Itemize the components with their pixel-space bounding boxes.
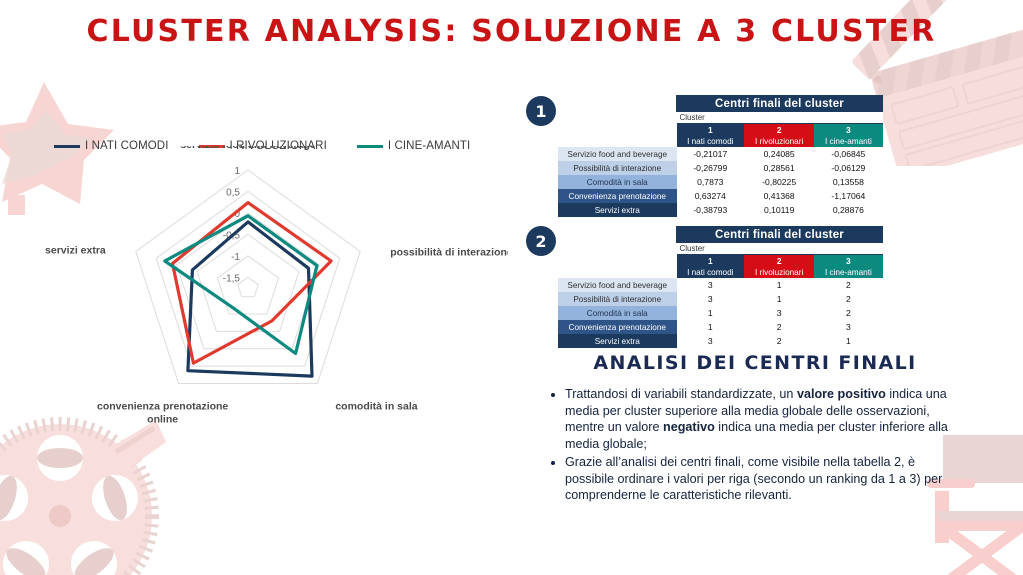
table1-row-label-1: Possibilità di interazione <box>558 161 677 175</box>
badge-table-2: 2 <box>526 226 556 256</box>
analysis-bullet: Grazie all’analisi dei centri finali, co… <box>565 454 948 504</box>
table1-cell-3-1: 0,41368 <box>744 189 814 203</box>
table2-row-label-2: Comodità in sala <box>558 306 677 320</box>
badge-table-1: 1 <box>526 96 556 126</box>
table1-col-num-2: 2 <box>744 124 814 136</box>
table1-cell-4-0: -0,38793 <box>677 203 745 217</box>
table2-col-num-1: 1 <box>677 255 745 267</box>
radar-chart: I NATI COMODI I RIVOLUZIONARI I CINE-AMA… <box>8 128 508 438</box>
table2-cell-2-2: 2 <box>814 306 882 320</box>
svg-text:comodità in sala: comodità in sala <box>335 400 417 412</box>
table-row: Servizio food and beverage -0,21017 0,24… <box>558 147 883 161</box>
table2-cluster-word: Cluster <box>677 243 883 255</box>
table2-col-name-3: I cine-amanti <box>814 266 882 278</box>
table2-cell-4-2: 1 <box>814 334 882 348</box>
table2-cell-2-1: 3 <box>744 306 814 320</box>
table2-cell-1-2: 2 <box>814 292 882 306</box>
table2-col-num-2: 2 <box>744 255 814 267</box>
table1-row-label-4: Servizi extra <box>558 203 677 217</box>
final-cluster-centers-table: Centri finali del cluster Cluster 1 2 3 … <box>558 95 883 217</box>
table1-cell-1-2: -0,06129 <box>814 161 882 175</box>
svg-text:1: 1 <box>234 166 240 177</box>
table-row: Convenienza prenotazione 0,63274 0,41368… <box>558 189 883 203</box>
table-row: Servizi extra -0,38793 0,10119 0,28876 <box>558 203 883 217</box>
table2-cell-0-2: 2 <box>814 278 882 292</box>
slide-canvas: CLUSTER ANALYSIS: SOLUZIONE A 3 CLUSTER … <box>0 0 1023 575</box>
table2-cell-2-0: 1 <box>677 306 745 320</box>
table2-cell-1-0: 3 <box>677 292 745 306</box>
table1-cell-0-2: -0,06845 <box>814 147 882 161</box>
table1-cell-4-2: 0,28876 <box>814 203 882 217</box>
table1-col-name-3: I cine-amanti <box>814 135 882 147</box>
table1-cell-3-0: 0,63274 <box>677 189 745 203</box>
table2-cell-3-2: 3 <box>814 320 882 334</box>
table-row: Servizio food and beverage 3 1 2 <box>558 278 883 292</box>
table2-cell-0-0: 3 <box>677 278 745 292</box>
table2-cell-1-1: 1 <box>744 292 814 306</box>
svg-text:online: online <box>147 413 178 425</box>
table-row: Comodità in sala 1 3 2 <box>558 306 883 320</box>
table1-col-num-1: 1 <box>677 124 745 136</box>
page-title: CLUSTER ANALYSIS: SOLUZIONE A 3 CLUSTER <box>0 14 1023 49</box>
table1-col-num-3: 3 <box>814 124 882 136</box>
table2-cell-0-1: 1 <box>744 278 814 292</box>
table2-row-label-1: Possibilità di interazione <box>558 292 677 306</box>
table1-title: Centri finali del cluster <box>677 96 883 112</box>
table1-cell-2-0: 0,7873 <box>677 175 745 189</box>
table2-cell-3-1: 2 <box>744 320 814 334</box>
svg-text:servizio food and beverage: servizio food and beverage <box>180 146 316 151</box>
table2-cell-4-0: 3 <box>677 334 745 348</box>
table-row: Servizi extra 3 2 1 <box>558 334 883 348</box>
table1-row-label-3: Convenienza prenotazione <box>558 189 677 203</box>
table1-row-label-0: Servizio food and beverage <box>558 147 677 161</box>
analysis-heading: ANALISI DEI CENTRI FINALI <box>540 352 970 374</box>
table1-cell-0-1: 0,24085 <box>744 147 814 161</box>
analysis-bullets: Trattandosi di variabili standardizzate,… <box>548 386 948 505</box>
table2-col-name-2: I rivoluzionari <box>744 266 814 278</box>
radar-plot: 10,50-0,5-1-1,5servizio food and beverag… <box>8 146 508 436</box>
table2-cell-4-1: 2 <box>744 334 814 348</box>
table1-cell-2-2: 0,13558 <box>814 175 882 189</box>
table2-cell-3-0: 1 <box>677 320 745 334</box>
table1-col-name-1: I nati comodi <box>677 135 745 147</box>
svg-text:-1,5: -1,5 <box>223 273 241 284</box>
svg-text:possibilità di interazione: possibilità di interazione <box>390 247 508 259</box>
table2-row-label-3: Convenienza prenotazione <box>558 320 677 334</box>
svg-text:convenienza prenotazione: convenienza prenotazione <box>97 400 228 412</box>
table2-row-label-4: Servizi extra <box>558 334 677 348</box>
table1-cell-0-0: -0,21017 <box>677 147 745 161</box>
table1-cell-3-2: -1,17064 <box>814 189 882 203</box>
table1-cell-1-1: 0,28561 <box>744 161 814 175</box>
svg-text:-1: -1 <box>231 252 240 263</box>
table-row: Convenienza prenotazione 1 2 3 <box>558 320 883 334</box>
table2-title: Centri finali del cluster <box>677 227 883 243</box>
table1-cell-2-1: -0,80225 <box>744 175 814 189</box>
table2-col-num-3: 3 <box>814 255 882 267</box>
table1-cell-4-1: 0,10119 <box>744 203 814 217</box>
svg-text:0,5: 0,5 <box>226 187 240 198</box>
table1-cluster-word: Cluster <box>677 112 883 124</box>
table1-cell-1-0: -0,26799 <box>677 161 745 175</box>
svg-text:servizi extra: servizi extra <box>45 245 106 257</box>
table-row: Possibilità di interazione 3 1 2 <box>558 292 883 306</box>
analysis-bullet: Trattandosi di variabili standardizzate,… <box>565 386 948 453</box>
table-row: Comodità in sala 0,7873 -0,80225 0,13558 <box>558 175 883 189</box>
table-row: Possibilità di interazione -0,26799 0,28… <box>558 161 883 175</box>
table1-col-name-2: I rivoluzionari <box>744 135 814 147</box>
cluster-ranking-table: Centri finali del cluster Cluster 1 2 3 … <box>558 226 883 348</box>
table2-col-name-1: I nati comodi <box>677 266 745 278</box>
table1-row-label-2: Comodità in sala <box>558 175 677 189</box>
table2-row-label-0: Servizio food and beverage <box>558 278 677 292</box>
